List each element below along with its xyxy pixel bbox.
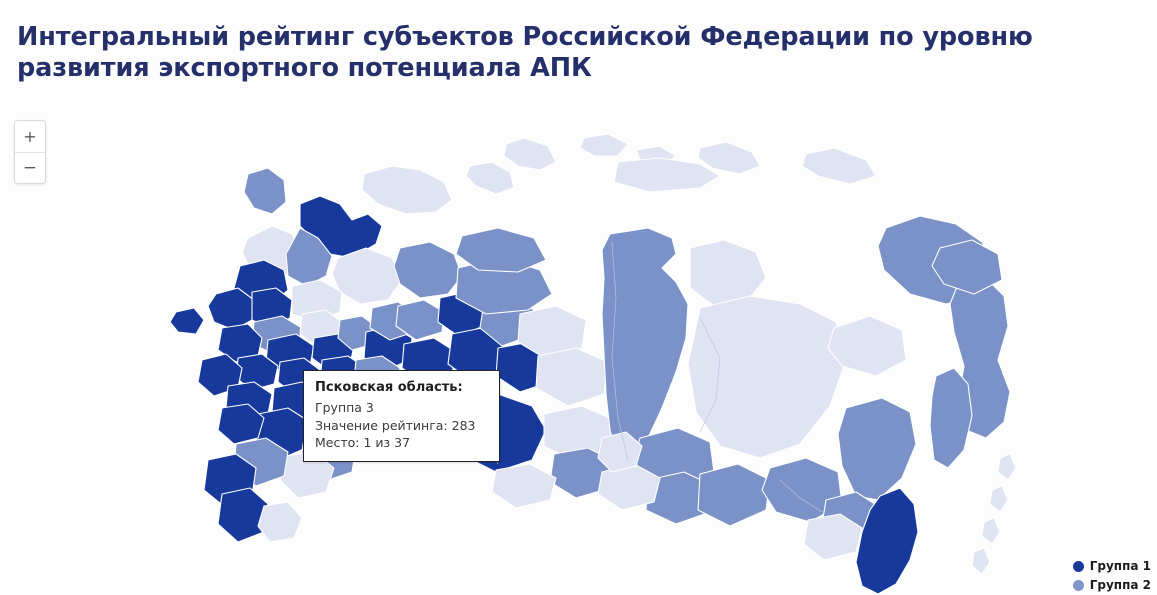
map-zoom-control[interactable]: + − xyxy=(14,120,46,184)
region-novaya-zemlya-north[interactable] xyxy=(504,138,556,170)
map-legend[interactable]: Группа 1 Группа 2 xyxy=(1073,557,1151,595)
legend-swatch-icon-group-2 xyxy=(1073,580,1084,591)
region-tomsk[interactable] xyxy=(536,348,608,406)
region-murmansk[interactable] xyxy=(244,168,286,214)
russia-choropleth-map[interactable]: .g1 { fill:#16399b; stroke:#ffffff; stro… xyxy=(0,108,1157,595)
tooltip-rating-value: Значение рейтинга: 283 xyxy=(315,417,488,435)
tooltip-region-name: Псковская область: xyxy=(315,379,488,397)
tooltip-place: Место: 1 из 37 xyxy=(315,434,488,452)
map-regions-layer[interactable] xyxy=(170,134,1016,594)
region-novosibirsk-islands[interactable] xyxy=(802,148,876,184)
region-nenets[interactable] xyxy=(362,166,452,214)
legend-swatch-icon-group-1 xyxy=(1073,561,1084,572)
region-yakutia[interactable] xyxy=(688,296,846,458)
region-yamalo-nenets-west[interactable] xyxy=(394,242,462,298)
region-kuril-islands-b[interactable] xyxy=(990,486,1008,512)
region-taymyr-coast[interactable] xyxy=(614,158,720,192)
region-kuril-islands-d[interactable] xyxy=(972,548,990,574)
region-khabarovsk[interactable] xyxy=(838,398,916,500)
legend-item-group-2[interactable]: Группа 2 xyxy=(1073,576,1151,594)
region-novaya-zemlya-south[interactable] xyxy=(466,162,514,194)
region-kaliningrad[interactable] xyxy=(170,308,204,334)
legend-label-group-2: Группа 2 xyxy=(1090,578,1151,592)
region-arctic-islands-a[interactable] xyxy=(580,134,628,156)
region-zabaykalsky[interactable] xyxy=(698,464,770,526)
region-evenkia[interactable] xyxy=(690,240,766,306)
tooltip-group: Группа 3 xyxy=(315,399,488,417)
legend-item-group-1[interactable]: Группа 1 xyxy=(1073,557,1151,575)
region-sakhalin[interactable] xyxy=(930,368,972,468)
zoom-out-button[interactable]: − xyxy=(15,152,45,183)
region-dagestan[interactable] xyxy=(258,502,302,542)
map-canvas[interactable]: .g1 { fill:#16399b; stroke:#ffffff; stro… xyxy=(0,108,1157,595)
region-komi[interactable] xyxy=(332,248,402,304)
region-kuril-islands[interactable] xyxy=(998,454,1016,480)
region-stavropol-caucasus[interactable] xyxy=(218,488,268,542)
zoom-in-button[interactable]: + xyxy=(15,121,45,152)
region-novosibirsk-south[interactable] xyxy=(492,464,556,508)
region-kuril-islands-c[interactable] xyxy=(982,518,1000,544)
region-tooltip: Псковская область: Группа 3 Значение рей… xyxy=(303,370,500,462)
page-title: Интегральный рейтинг субъектов Российско… xyxy=(17,22,1077,84)
legend-label-group-1: Группа 1 xyxy=(1090,559,1151,573)
